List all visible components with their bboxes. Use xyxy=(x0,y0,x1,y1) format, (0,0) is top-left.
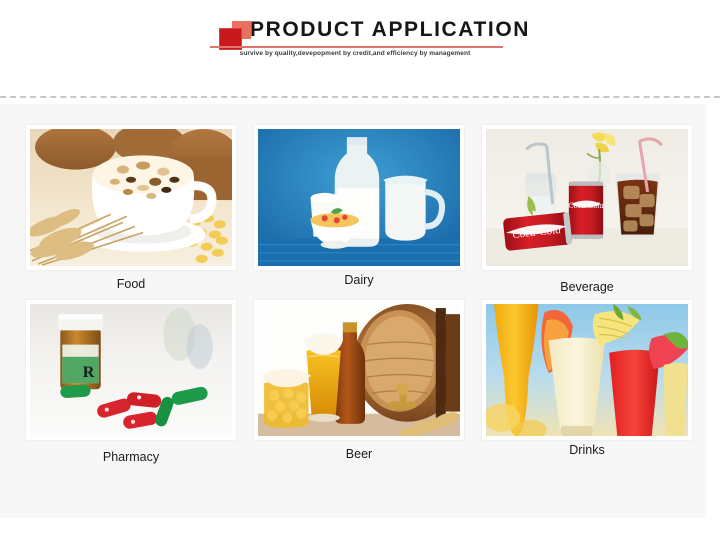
title-underline-rule xyxy=(210,46,503,48)
image-frame-beer xyxy=(254,300,464,440)
grid-item-label-dairy: Dairy xyxy=(254,270,464,287)
image-frame-beverage: Coca-Cola Coca-Cola xyxy=(482,125,692,270)
grid-item-dairy[interactable]: Dairy xyxy=(254,125,464,294)
grid-item-beer[interactable]: Beer xyxy=(254,300,464,464)
pill-bottle-capsules-photo: R xyxy=(30,304,232,436)
grid-item-pharmacy[interactable]: R xyxy=(26,300,236,464)
image-frame-drinks xyxy=(482,300,692,440)
cola-cans-glasses-photo: Coca-Cola Coca-Cola xyxy=(486,129,688,266)
grid-item-label-beverage: Beverage xyxy=(482,270,692,294)
header-divider xyxy=(0,96,720,98)
grid-item-label-food: Food xyxy=(26,270,236,291)
svg-text:Coca-Cola: Coca-Cola xyxy=(568,201,603,210)
grid-item-food[interactable]: Food xyxy=(26,125,236,294)
grid-item-beverage[interactable]: Coca-Cola Coca-Cola Beverage xyxy=(482,125,692,294)
image-frame-dairy xyxy=(254,125,464,270)
grid-item-label-beer: Beer xyxy=(254,440,464,461)
grid-item-label-drinks: Drinks xyxy=(482,440,692,457)
grid-item-label-pharmacy: Pharmacy xyxy=(26,440,236,464)
title-block: PRODUCT APPLICATION survive by quality,d… xyxy=(205,18,505,70)
svg-text:R: R xyxy=(83,363,95,381)
milk-bottle-jug-photo xyxy=(258,129,460,266)
page-title: PRODUCT APPLICATION xyxy=(250,18,530,42)
beer-glass-barrel-photo xyxy=(258,304,460,436)
fruit-smoothies-photo xyxy=(486,304,688,436)
image-frame-pharmacy: R xyxy=(26,300,236,440)
cereal-bowl-wheat-photo xyxy=(30,129,232,266)
slide-header: PRODUCT APPLICATION survive by quality,d… xyxy=(0,0,720,88)
image-frame-food xyxy=(26,125,236,270)
grid-item-drinks[interactable]: Drinks xyxy=(482,300,692,464)
page-subtitle: survive by quality,devepopment by credit… xyxy=(205,50,505,57)
product-application-grid: Food xyxy=(26,125,686,464)
content-panel: Food xyxy=(0,104,706,518)
